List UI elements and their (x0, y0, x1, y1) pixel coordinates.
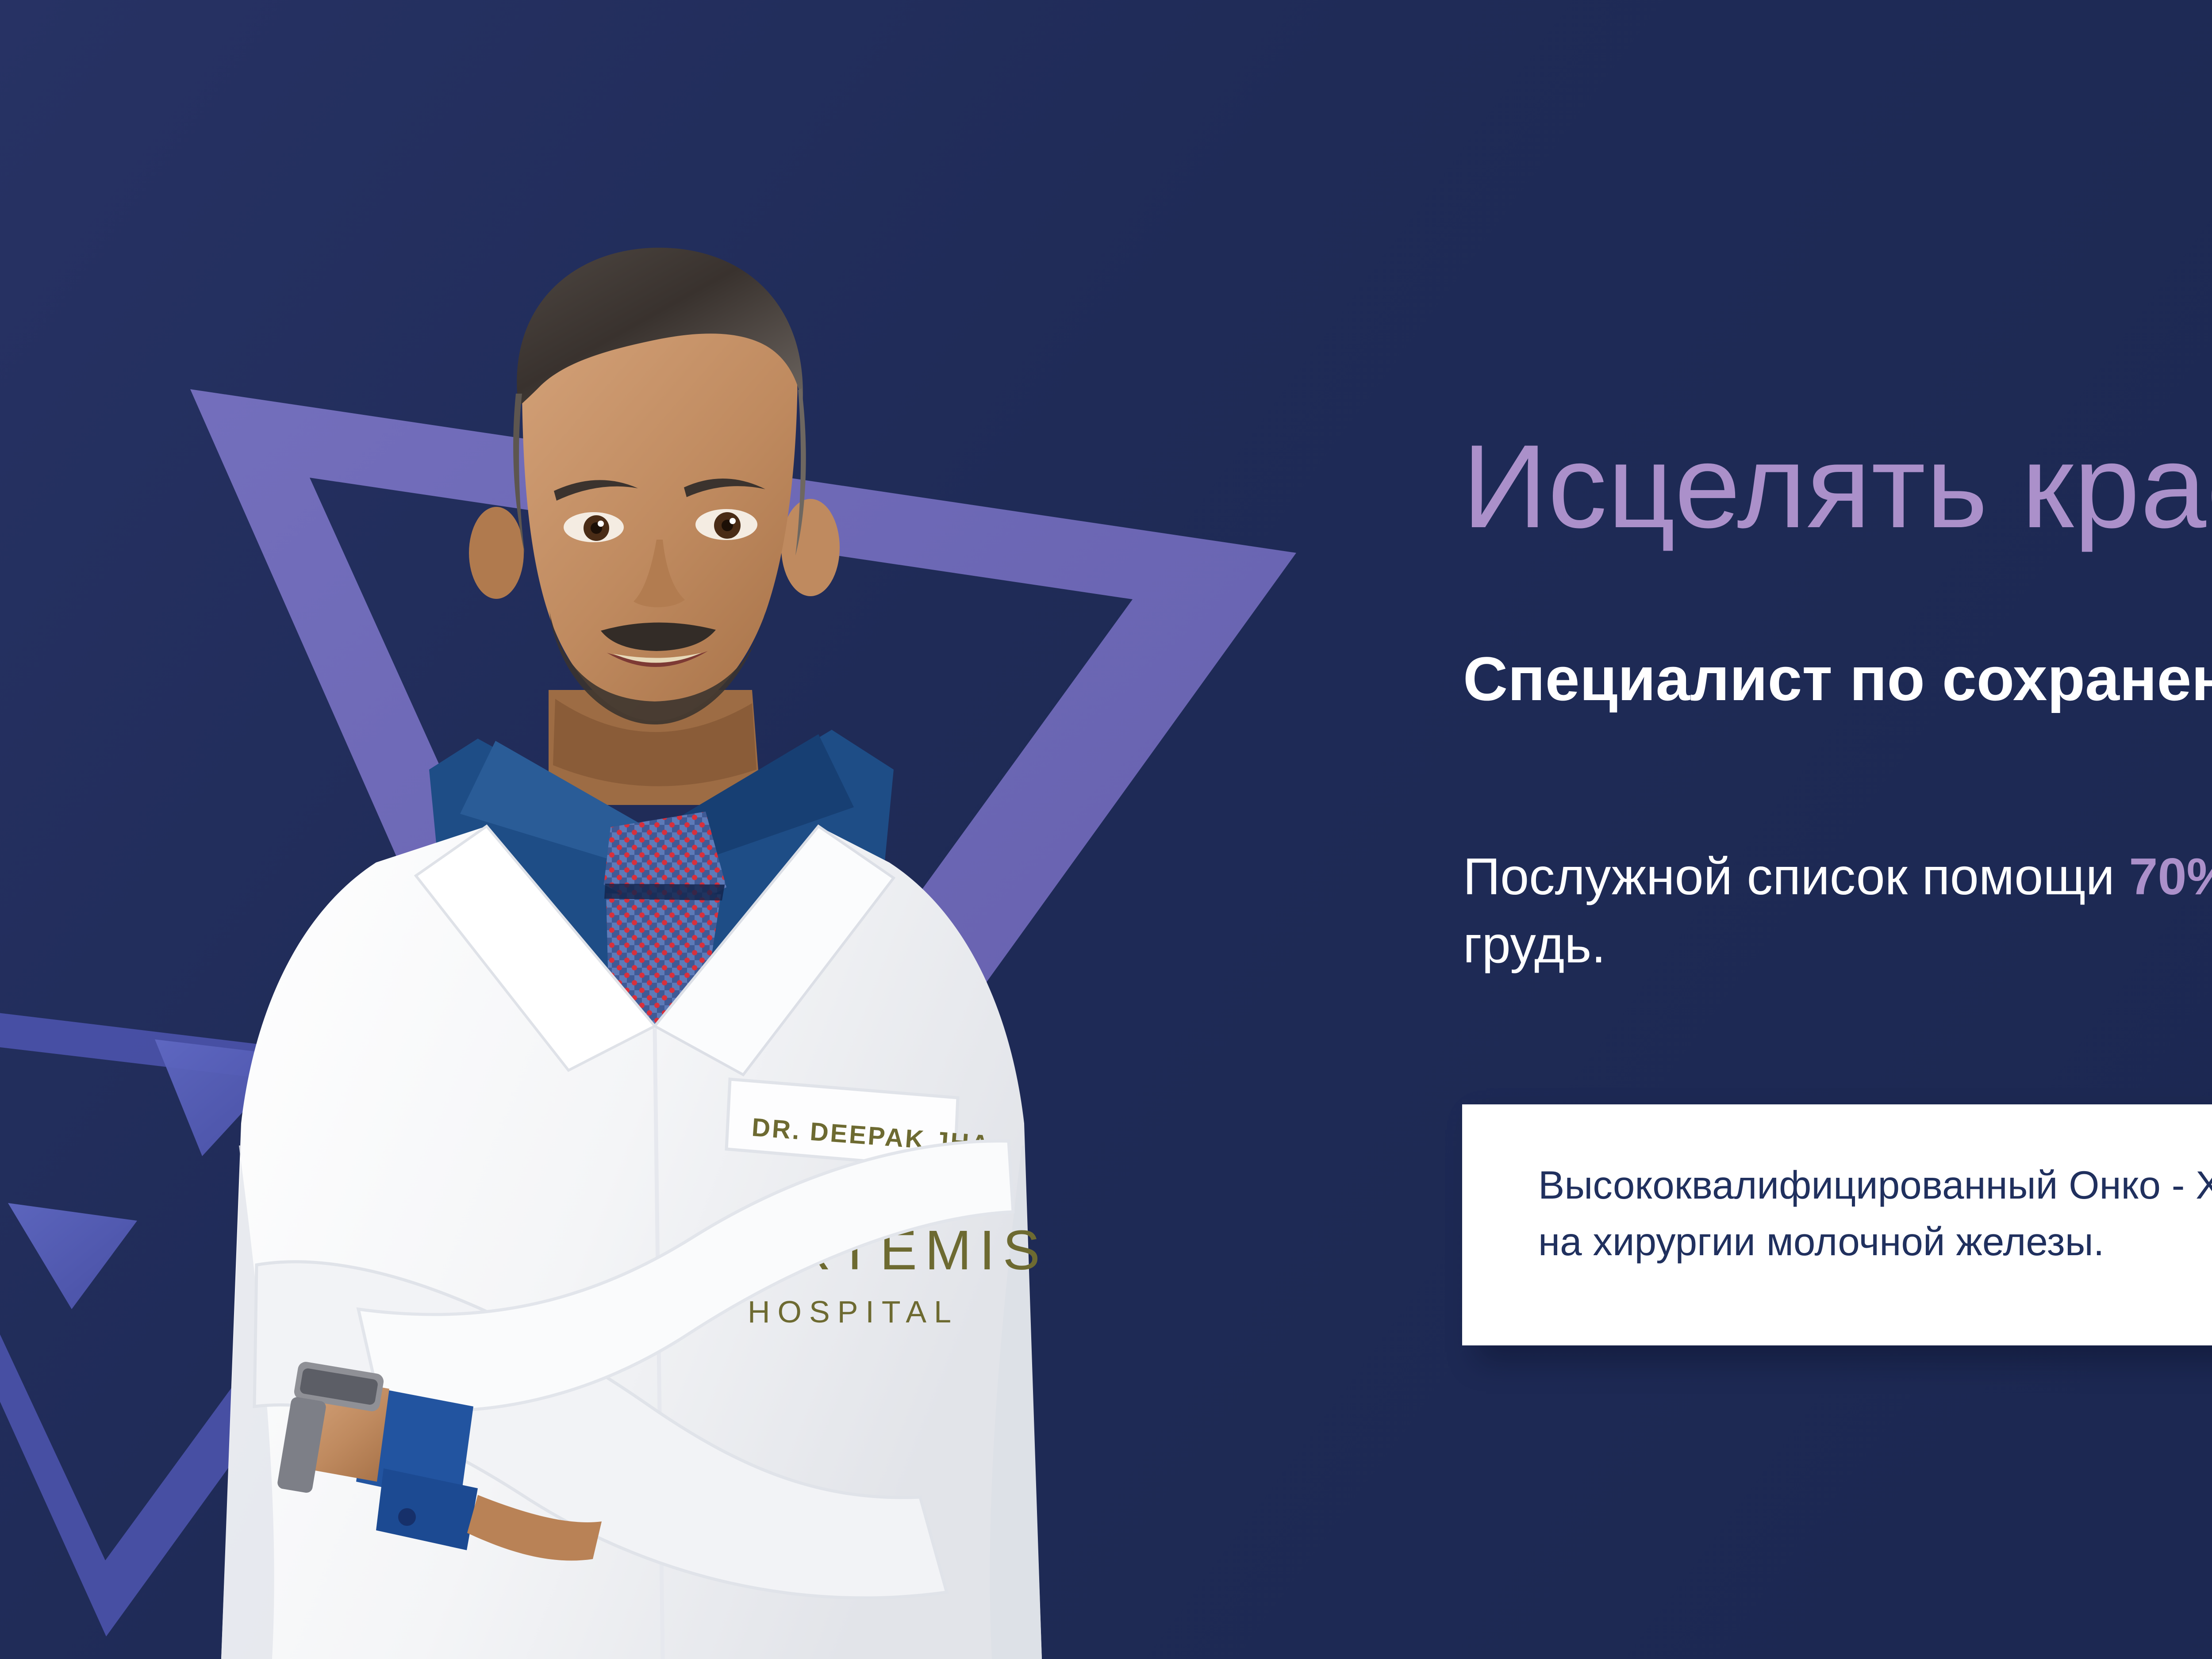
lede-text-before: Послужной список помощи (1463, 847, 2129, 905)
lede-stat-highlight: 70% пациентов (2129, 847, 2212, 905)
doctor-portrait: DR. DEEPAK JHA ARTEMIS HOSPITAL (168, 186, 1301, 1659)
credential-callout-text: Высококвалифицированный Онко - Хирур, сп… (1538, 1157, 2212, 1270)
credential-callout-box: Высококвалифицированный Онко - Хирур, сп… (1462, 1104, 2212, 1345)
hero-content: Исцелять красиво Специалист по сохранени… (1462, 0, 2212, 1659)
page-subtitle: Специалист по сохранению груди (1463, 648, 2212, 710)
page-title: Исцелять красиво (1462, 427, 2212, 545)
hero-lede: Послужной список помощи 70% пациентов со… (1463, 843, 2212, 979)
hero-banner: DR. DEEPAK JHA ARTEMIS HOSPITAL (0, 0, 2212, 1659)
logo-subtext: HOSPITAL (748, 1295, 959, 1329)
callout-line-1: Высококвалифицированный Онко - Хирур, сп… (1538, 1163, 2212, 1207)
